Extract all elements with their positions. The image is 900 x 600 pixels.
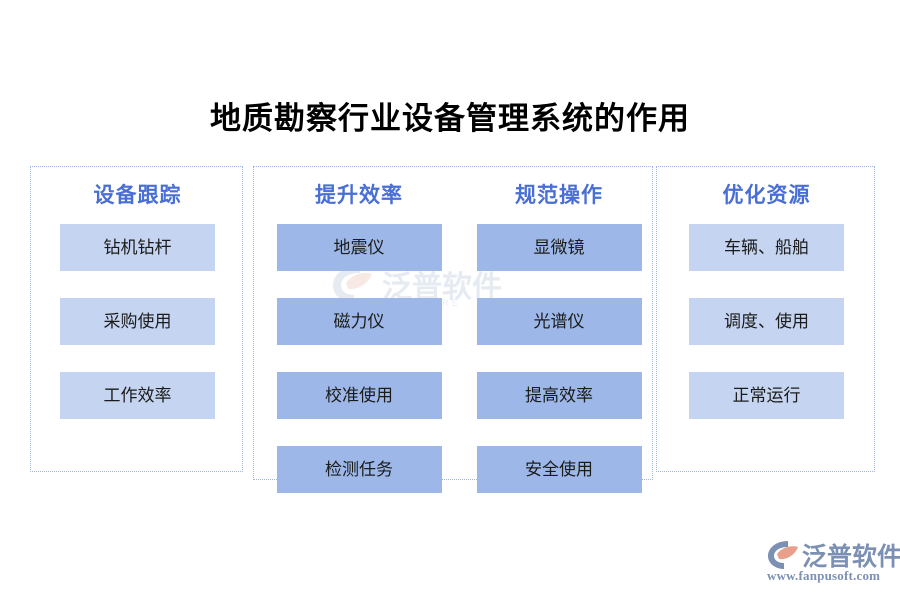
footer-logo: 泛普软件 www.fanpusoft.com xyxy=(766,537,890,589)
column-equipment-tracking: 设备跟踪 钻机钻杆 采购使用 工作效率 xyxy=(31,167,244,446)
panel-left: 设备跟踪 钻机钻杆 采购使用 工作效率 xyxy=(30,166,243,472)
logo-url: www.fanpusoft.com xyxy=(767,568,880,584)
item-box[interactable]: 磁力仪 xyxy=(277,298,442,345)
item-box[interactable]: 车辆、船舶 xyxy=(689,224,844,271)
slide-canvas: 地质勘察行业设备管理系统的作用 泛普软件 SOFTWARE 设备跟踪 钻机钻杆 … xyxy=(0,0,900,600)
item-box[interactable]: 安全使用 xyxy=(477,446,642,493)
column-header: 规范操作 xyxy=(515,179,603,209)
item-box[interactable]: 调度、使用 xyxy=(689,298,844,345)
panel-right: 优化资源 车辆、船舶 调度、使用 正常运行 xyxy=(656,166,875,472)
item-box[interactable]: 校准使用 xyxy=(277,372,442,419)
panel-middle: 提升效率 地震仪 磁力仪 校准使用 检测任务 规范操作 显微镜 光谱仪 提高效率… xyxy=(253,166,653,480)
item-box[interactable]: 工作效率 xyxy=(60,372,215,419)
column-header: 设备跟踪 xyxy=(94,179,182,209)
item-box[interactable]: 提高效率 xyxy=(477,372,642,419)
item-box[interactable]: 检测任务 xyxy=(277,446,442,493)
column-optimize-resources: 优化资源 车辆、船舶 调度、使用 正常运行 xyxy=(657,167,876,446)
page-title: 地质勘察行业设备管理系统的作用 xyxy=(0,93,900,138)
item-box[interactable]: 光谱仪 xyxy=(477,298,642,345)
fanpu-logo-mark-icon xyxy=(766,539,800,571)
item-box[interactable]: 正常运行 xyxy=(689,372,844,419)
column-efficiency: 提升效率 地震仪 磁力仪 校准使用 检测任务 xyxy=(264,167,454,520)
item-box[interactable]: 采购使用 xyxy=(60,298,215,345)
column-standard-operation: 规范操作 显微镜 光谱仪 提高效率 安全使用 xyxy=(464,167,654,520)
column-header: 优化资源 xyxy=(723,179,811,209)
item-box[interactable]: 地震仪 xyxy=(277,224,442,271)
item-box[interactable]: 显微镜 xyxy=(477,224,642,271)
item-box[interactable]: 钻机钻杆 xyxy=(60,224,215,271)
column-header: 提升效率 xyxy=(315,179,403,209)
